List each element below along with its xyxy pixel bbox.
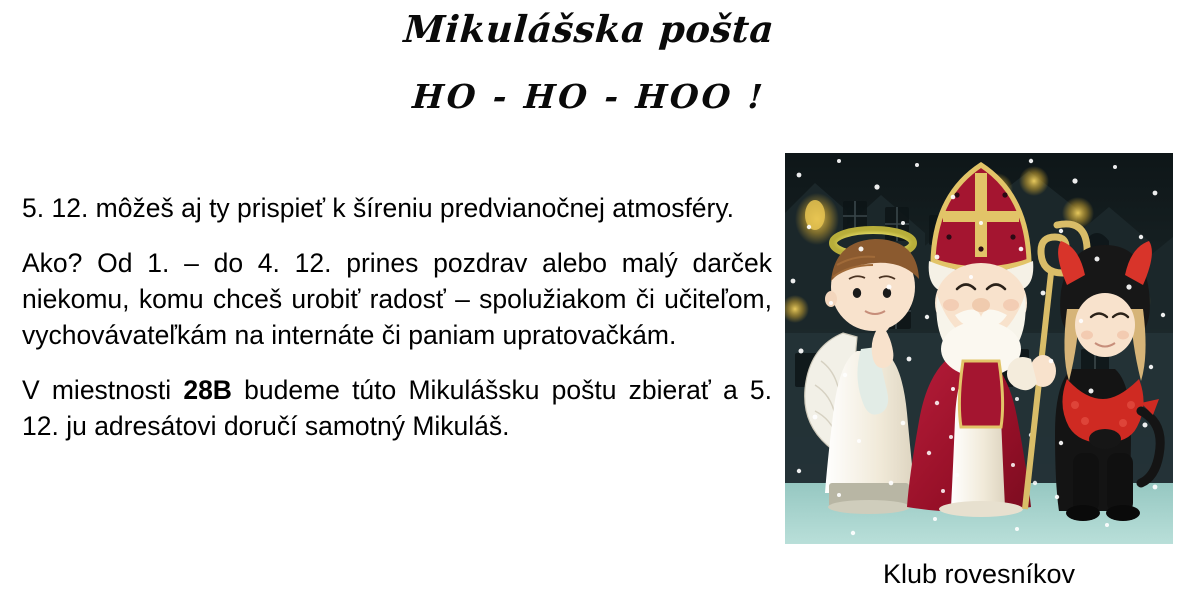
- page-subtitle: HO - HO - HOO !: [0, 80, 1178, 113]
- paragraph-3-text-before: V miestnosti: [22, 375, 183, 405]
- saint-nicholas-angel-devil-illustration: [785, 153, 1173, 544]
- body-paragraph-1: 5. 12. môžeš aj ty prispieť k šíreniu pr…: [22, 190, 772, 226]
- page-title: Mikulášska pošta: [0, 11, 1178, 48]
- body-paragraph-2: Ako? Od 1. – do 4. 12. prines pozdrav al…: [22, 245, 772, 353]
- illustration-container: [785, 153, 1173, 544]
- room-number-highlight: 28B: [183, 375, 232, 405]
- body-paragraph-3: V miestnosti 28B budeme túto Mikulášsku …: [22, 372, 772, 444]
- body-text-column: 5. 12. môžeš aj ty prispieť k šíreniu pr…: [22, 190, 772, 444]
- title-block: Mikulášska pošta HO - HO - HOO !: [0, 0, 1178, 113]
- image-caption: Klub rovesníkov: [785, 558, 1173, 590]
